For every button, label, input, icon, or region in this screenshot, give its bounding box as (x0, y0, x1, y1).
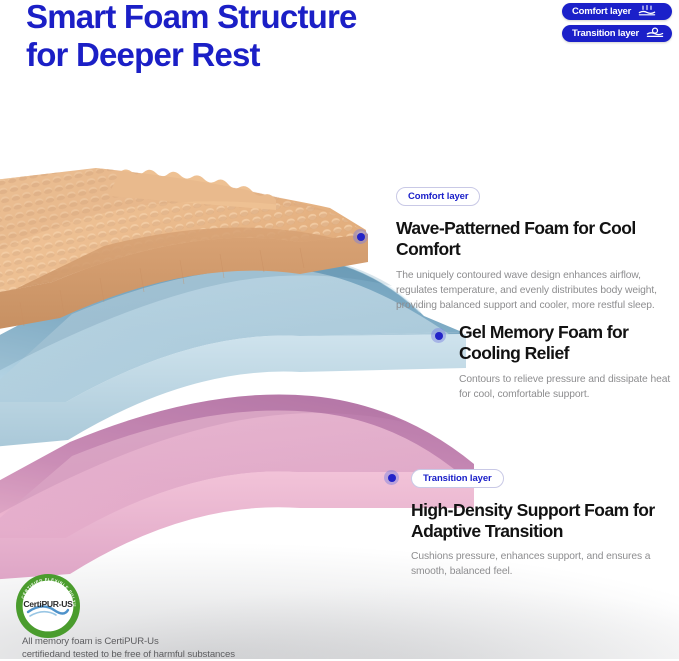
top-badge-transition-label: Transition layer (572, 28, 639, 39)
top-badge-comfort-label: Comfort layer (572, 6, 631, 17)
top-badge-transition-layer[interactable]: Transition layer (562, 25, 672, 42)
wave-support-icon (646, 27, 664, 41)
certipur-note: All memory foam is CertiPUR-Us certified… (22, 636, 235, 661)
airflow-arrows-icon (638, 5, 656, 19)
annotation-heading-comfort: Wave-Patterned Foam for Cool Comfort (396, 218, 671, 259)
pill-comfort-layer: Comfort layer (396, 187, 480, 206)
pill-transition-layer: Transition layer (411, 469, 504, 488)
annotation-heading-gel: Gel Memory Foam for Cooling Relief (459, 322, 671, 363)
top-badge-group: Comfort layer Transition layer (562, 3, 672, 42)
top-badge-comfort-layer[interactable]: Comfort layer (562, 3, 672, 20)
annotation-body-comfort: The uniquely contoured wave design enhan… (396, 269, 671, 313)
marker-dot-gel (431, 328, 446, 343)
annotation-gel-memory-foam: Gel Memory Foam for Cooling Relief Conto… (459, 322, 671, 403)
svg-text:CertiPUR-US: CertiPUR-US (23, 599, 73, 609)
page-title: Smart Foam Structure for Deeper Rest (26, 0, 456, 75)
marker-dot-comfort (353, 229, 368, 244)
annotation-heading-transition: High-Density Support Foam for Adaptive T… (411, 500, 677, 541)
page-title-line-1: Smart Foam Structure (26, 0, 456, 36)
annotation-body-transition: Cushions pressure, enhances support, and… (411, 550, 677, 579)
certipur-us-seal-icon: CERTIFIED FLEXIBLE POLYURETHANE FOAM www… (14, 572, 82, 640)
certipur-note-line-2: certifiedand tested to be free of harmfu… (22, 649, 235, 661)
annotation-transition-layer: Transition layer High-Density Support Fo… (411, 468, 677, 580)
annotation-body-gel: Contours to relieve pressure and dissipa… (459, 373, 671, 402)
certipur-note-line-1: All memory foam is CertiPUR-Us (22, 636, 235, 649)
marker-dot-transition (384, 470, 399, 485)
page-title-line-2: for Deeper Rest (26, 36, 456, 74)
annotation-comfort-layer: Comfort layer Wave-Patterned Foam for Co… (396, 186, 671, 313)
